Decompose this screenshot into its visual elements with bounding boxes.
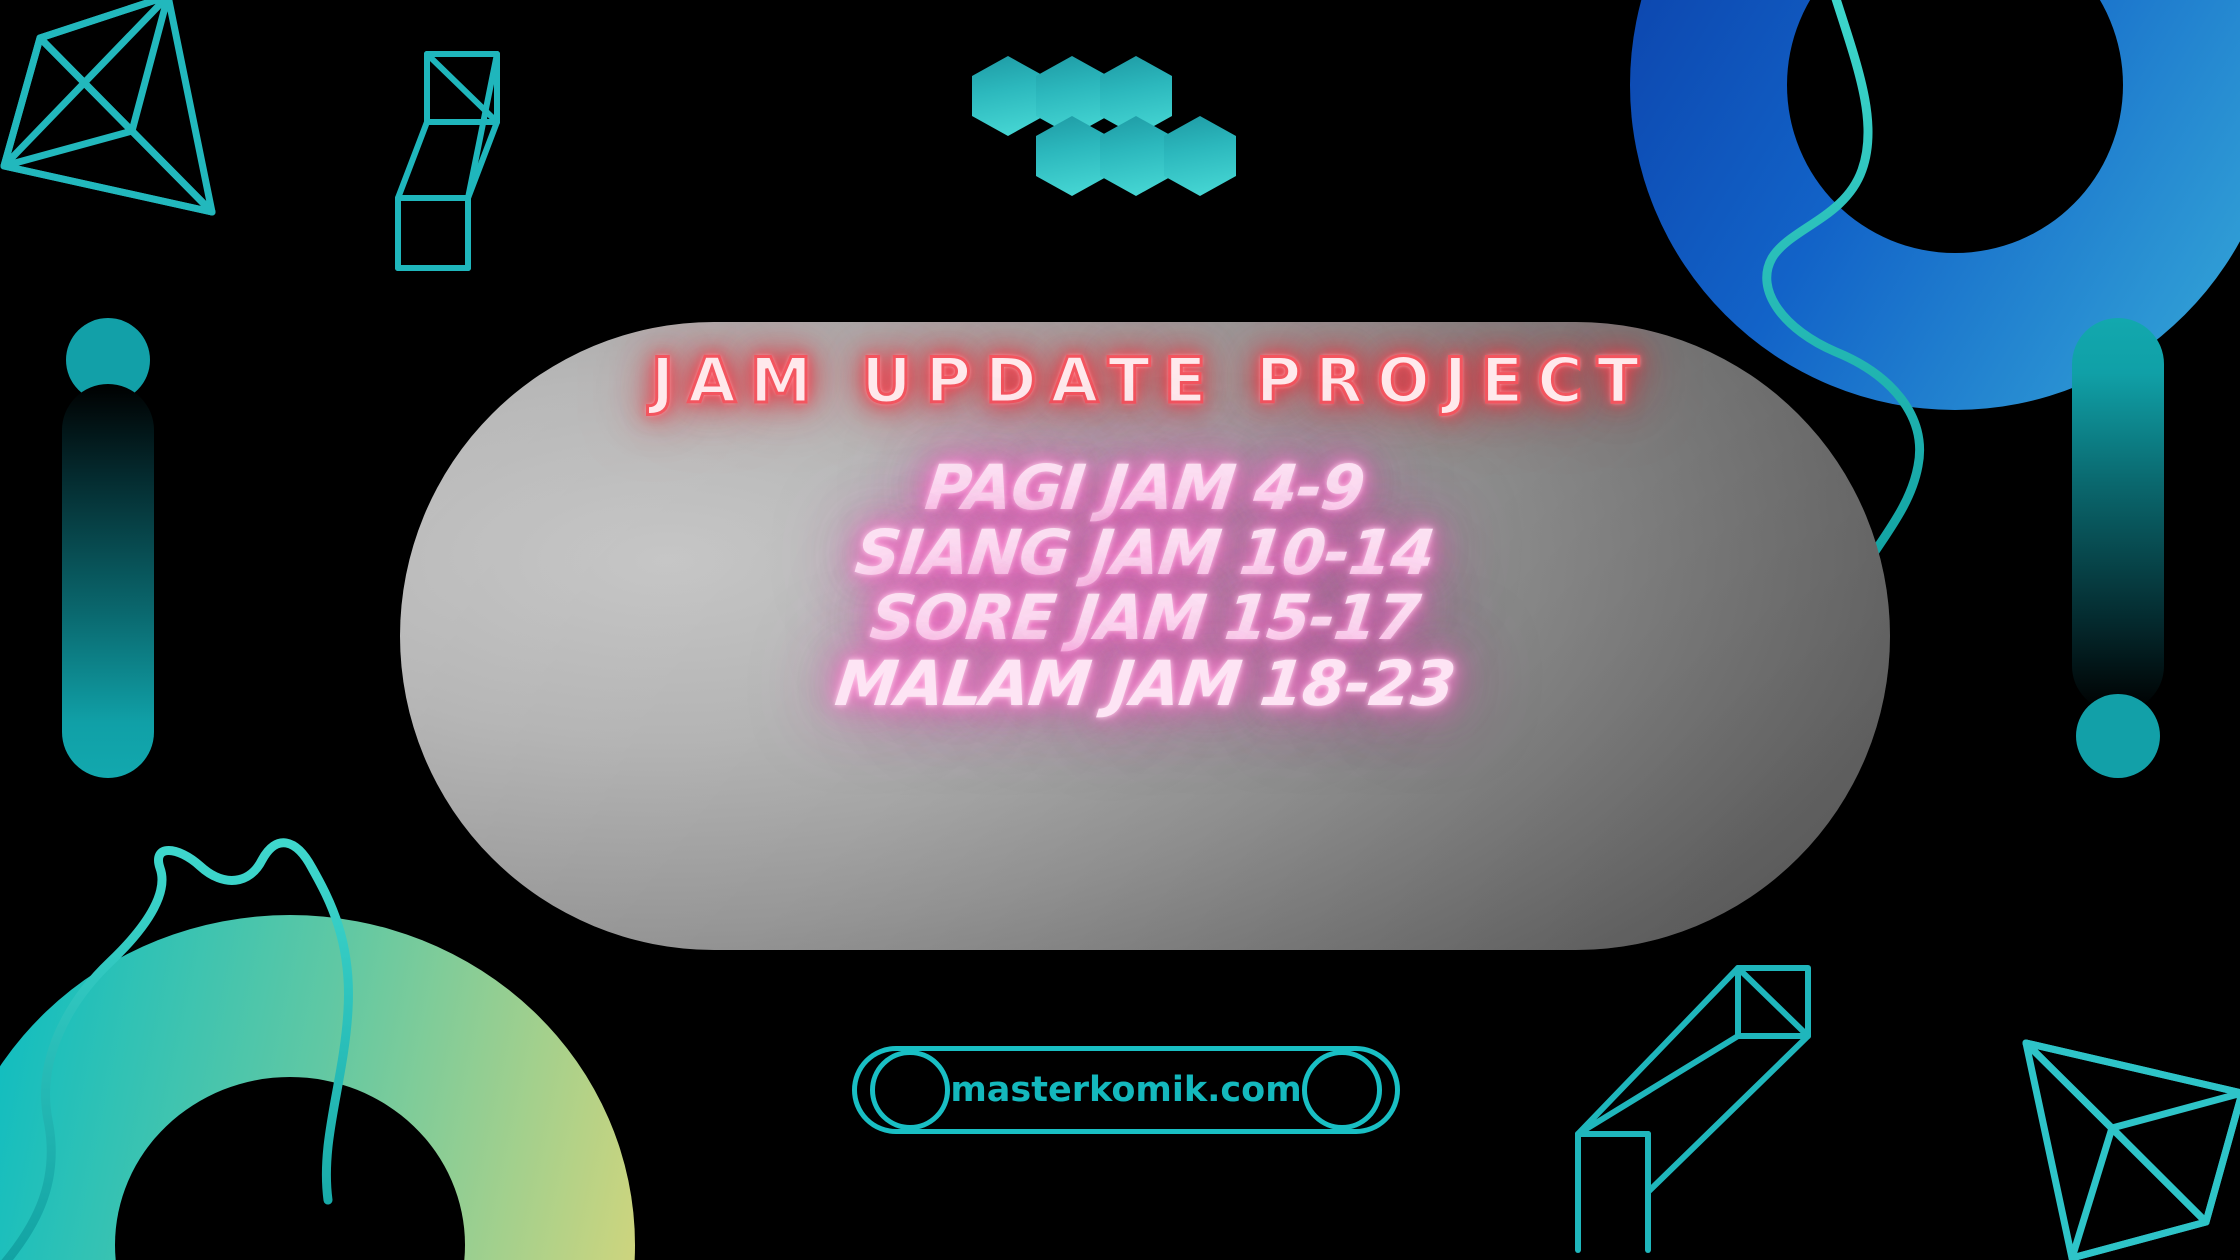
exclamation-bar <box>62 384 154 778</box>
page-title-text: JAM UPDATE PROJECT <box>651 350 1653 412</box>
panel-content: JAM UPDATE PROJECT PAGI JAM 4-9 SIANG JA… <box>400 322 1890 950</box>
hexagon-icon <box>1164 116 1236 196</box>
wireframe-pyramid-icon-bottom-right <box>2026 1043 2240 1258</box>
exclamation-mark-icon-right <box>2072 318 2164 778</box>
content-panel: JAM UPDATE PROJECT PAGI JAM 4-9 SIANG JA… <box>400 322 1890 950</box>
poster-canvas: JAM UPDATE PROJECT PAGI JAM 4-9 SIANG JA… <box>0 0 2240 1260</box>
squiggle-line-bottom-left <box>0 843 348 1260</box>
exclamation-mark-icon-left <box>62 318 154 778</box>
page-title: JAM UPDATE PROJECT <box>637 350 1653 412</box>
schedule-item-siang: SIANG JAM 10-14 <box>852 521 1437 584</box>
schedule-item-pagi: PAGI JAM 4-9 <box>922 456 1367 519</box>
hexagon-icon <box>1100 116 1172 196</box>
exclamation-dot <box>2076 694 2160 778</box>
schedule-item-sore: SORE JAM 15-17 <box>867 586 1422 649</box>
website-url-text: masterkomik.com <box>950 1070 1301 1110</box>
hexagon-icon <box>1036 116 1108 196</box>
wireframe-bar-icon-top-left <box>398 54 497 268</box>
schedule-item-malam: MALAM JAM 18-23 <box>832 652 1458 715</box>
wireframe-bar-icon-bottom-right <box>1578 968 1808 1250</box>
wireframe-pyramid-icon-top-left <box>4 0 212 212</box>
hexagon-icon <box>972 56 1044 136</box>
exclamation-bar <box>2072 318 2164 712</box>
schedule-list: PAGI JAM 4-9 SIANG JAM 10-14 SORE JAM 15… <box>836 456 1454 715</box>
teal-yellow-gradient-ring <box>0 900 660 1260</box>
website-url-badge[interactable]: masterkomik.com <box>852 1046 1400 1134</box>
badge-cap-left-circle <box>870 1050 950 1130</box>
hexagon-cluster-icon <box>972 40 1272 180</box>
badge-cap-right-circle <box>1302 1050 1382 1130</box>
